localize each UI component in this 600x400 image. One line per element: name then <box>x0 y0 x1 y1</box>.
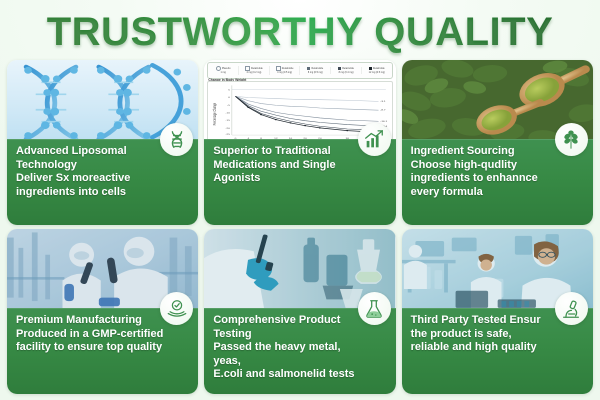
microscope-icon <box>555 292 588 325</box>
feature-card-comprehensive-product-testing[interactable]: Comprehensive Product Testing Passed the… <box>204 229 395 394</box>
legend-label: Retatrutide <box>282 67 294 70</box>
card-caption-text: Superior to Traditional Medications and … <box>213 145 361 186</box>
card-caption-text: Advanced Liposomal Technology Deliver Sx… <box>16 145 164 199</box>
page-title: TRUSTWORTHY QUALITY TRUSTWORTHY QUALITY <box>0 8 600 56</box>
caption-line: E.coli and salmonelid tests <box>213 368 361 382</box>
series-end-label: -8.7 <box>381 109 387 111</box>
svg-text:-20: -20 <box>226 127 231 130</box>
legend-dose: 8 mg (0.5 mg) <box>308 71 323 74</box>
legend-dose: 4 mg (0.5 mg) <box>277 71 292 74</box>
svg-text:Percentage Change: Percentage Change <box>213 103 218 126</box>
legend-entry: Placebo 1 mg <box>208 66 239 74</box>
caption-line: Third Party Tested Ensur <box>411 314 559 328</box>
legend-entry: Retatrutide 12 mg (0.5 mg) <box>362 67 392 73</box>
feature-card-premium-manufacturing[interactable]: Premium Manufacturing Produced in a GMP-… <box>7 229 198 394</box>
caption-line: Medications and Single <box>213 159 361 173</box>
legend-label: Placebo <box>222 67 231 70</box>
legend-entry: Retatrutide 8 mg (0.4 mg) <box>331 67 362 73</box>
feature-card-advanced-liposomal-technology[interactable]: Advanced Liposomal Technology Deliver Sx… <box>7 60 198 225</box>
feature-card-grid: Advanced Liposomal Technology Deliver Sx… <box>7 60 593 394</box>
svg-text:0: 0 <box>228 96 230 99</box>
legend-entry: Retatrutide 4 mg (0.5 mg) <box>270 66 301 74</box>
legend-entry: Retatrutide 8 mg (0.5 mg) <box>300 67 331 73</box>
legend-dose: 12 mg (0.5 mg) <box>369 71 385 74</box>
legend-label: Retatrutide <box>251 67 263 70</box>
flask-icon <box>358 292 391 325</box>
caption-line: facility to ensure top quality <box>16 341 164 355</box>
poster: TRUSTWORTHY QUALITY TRUSTWORTHY QUALITY <box>0 0 600 400</box>
legend-dose: 4 mg (0.2 mg) <box>246 71 261 74</box>
caption-line: Ingredient Sourcing <box>411 145 559 159</box>
feature-card-superior-to-traditional-medications[interactable]: Placebo 1 mg Retatrutide 4 mg (0.2 mg) R… <box>204 60 395 225</box>
svg-text:-25: -25 <box>226 133 231 136</box>
caption-line: Deliver Sx moreactive <box>16 172 164 186</box>
caption-line: Comprehensive Product <box>213 314 361 328</box>
caption-line: Passed the heavy metal, yeas, <box>213 341 361 368</box>
card-caption-text: Comprehensive Product Testing Passed the… <box>213 314 361 382</box>
page-title-text: TRUSTWORTHY QUALITY <box>47 10 554 55</box>
card-caption-text: Third Party Tested Ensur the product is … <box>411 314 559 355</box>
caption-line: the product is safe, <box>411 328 559 342</box>
series-end-label: -16.1 <box>381 120 389 122</box>
caption-line: Superior to Traditional <box>213 145 361 159</box>
caption-line: Advanced Liposomal <box>16 145 164 159</box>
caption-line: Produced in a GMP-certified <box>16 328 164 342</box>
card-caption-text: Ingredient Sourcing Choose high-qudlity … <box>411 145 559 199</box>
caption-line: Agonists <box>213 172 361 186</box>
caption-line: Choose high-qudlity <box>411 159 559 173</box>
svg-text:-15: -15 <box>226 119 231 122</box>
caption-line: reliable and high quality <box>411 341 559 355</box>
caption-line: ingredients into cells <box>16 186 164 200</box>
caption-line: Technology <box>16 159 164 173</box>
svg-text:5: 5 <box>228 88 230 91</box>
legend-dose: 1 mg <box>221 71 226 74</box>
caption-line: Premium Manufacturing <box>16 314 164 328</box>
svg-text:-10: -10 <box>226 111 231 114</box>
legend-entry: Retatrutide 4 mg (0.2 mg) <box>239 66 270 74</box>
series-end-label: -3.1 <box>381 100 387 102</box>
legend-dose: 8 mg (0.4 mg) <box>339 71 354 74</box>
chart-legend: Placebo 1 mg Retatrutide 4 mg (0.2 mg) R… <box>207 62 392 79</box>
caption-line: every formula <box>411 186 559 200</box>
card-caption-text: Premium Manufacturing Produced in a GMP-… <box>16 314 164 355</box>
leaf-sprig-icon <box>555 123 588 156</box>
feature-card-ingredient-sourcing[interactable]: Ingredient Sourcing Choose high-qudlity … <box>402 60 593 225</box>
feature-card-third-party-tested[interactable]: Third Party Tested Ensur the product is … <box>402 229 593 394</box>
caption-line: ingredients to enhannce <box>411 172 559 186</box>
caption-line: Testing <box>213 328 361 342</box>
growth-chart-icon <box>358 123 391 156</box>
svg-text:-5: -5 <box>227 104 231 107</box>
